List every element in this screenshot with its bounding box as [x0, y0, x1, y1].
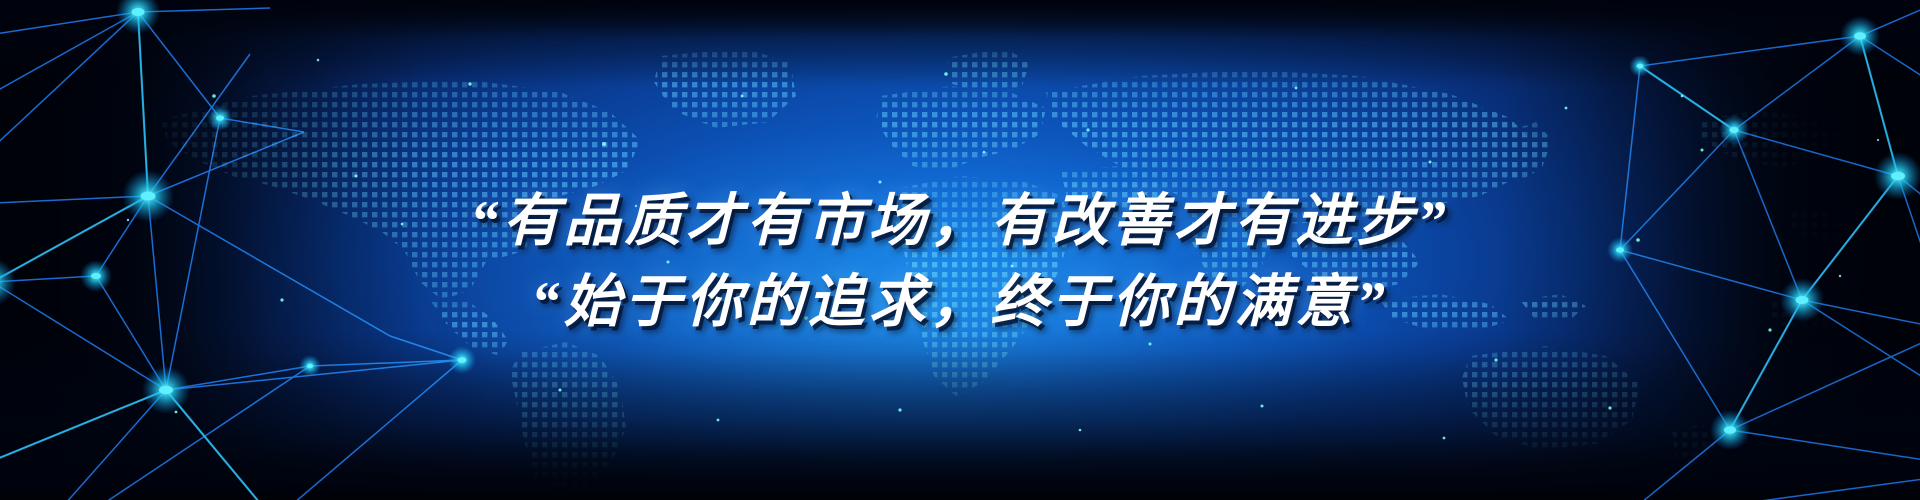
slogan-line-1: “有品质才有市场，有改善才有进步”: [470, 188, 1450, 255]
slogan-2-open-quote: “: [531, 269, 564, 336]
slogan-text-block: “有品质才有市场，有改善才有进步” “始于你的追求，终于你的满意”: [0, 0, 1920, 500]
slogan-2-text: 始于你的追求，终于你的满意: [564, 271, 1357, 334]
slogan-1-open-quote: “: [470, 188, 503, 255]
slogan-1-text: 有品质才有市场，有改善才有进步: [503, 190, 1418, 253]
slogan-line-2: “始于你的追求，终于你的满意”: [531, 269, 1389, 336]
slogan-1-close-quote: ”: [1417, 188, 1450, 255]
hero-banner: “有品质才有市场，有改善才有进步” “始于你的追求，终于你的满意”: [0, 0, 1920, 500]
slogan-2-close-quote: ”: [1356, 269, 1389, 336]
